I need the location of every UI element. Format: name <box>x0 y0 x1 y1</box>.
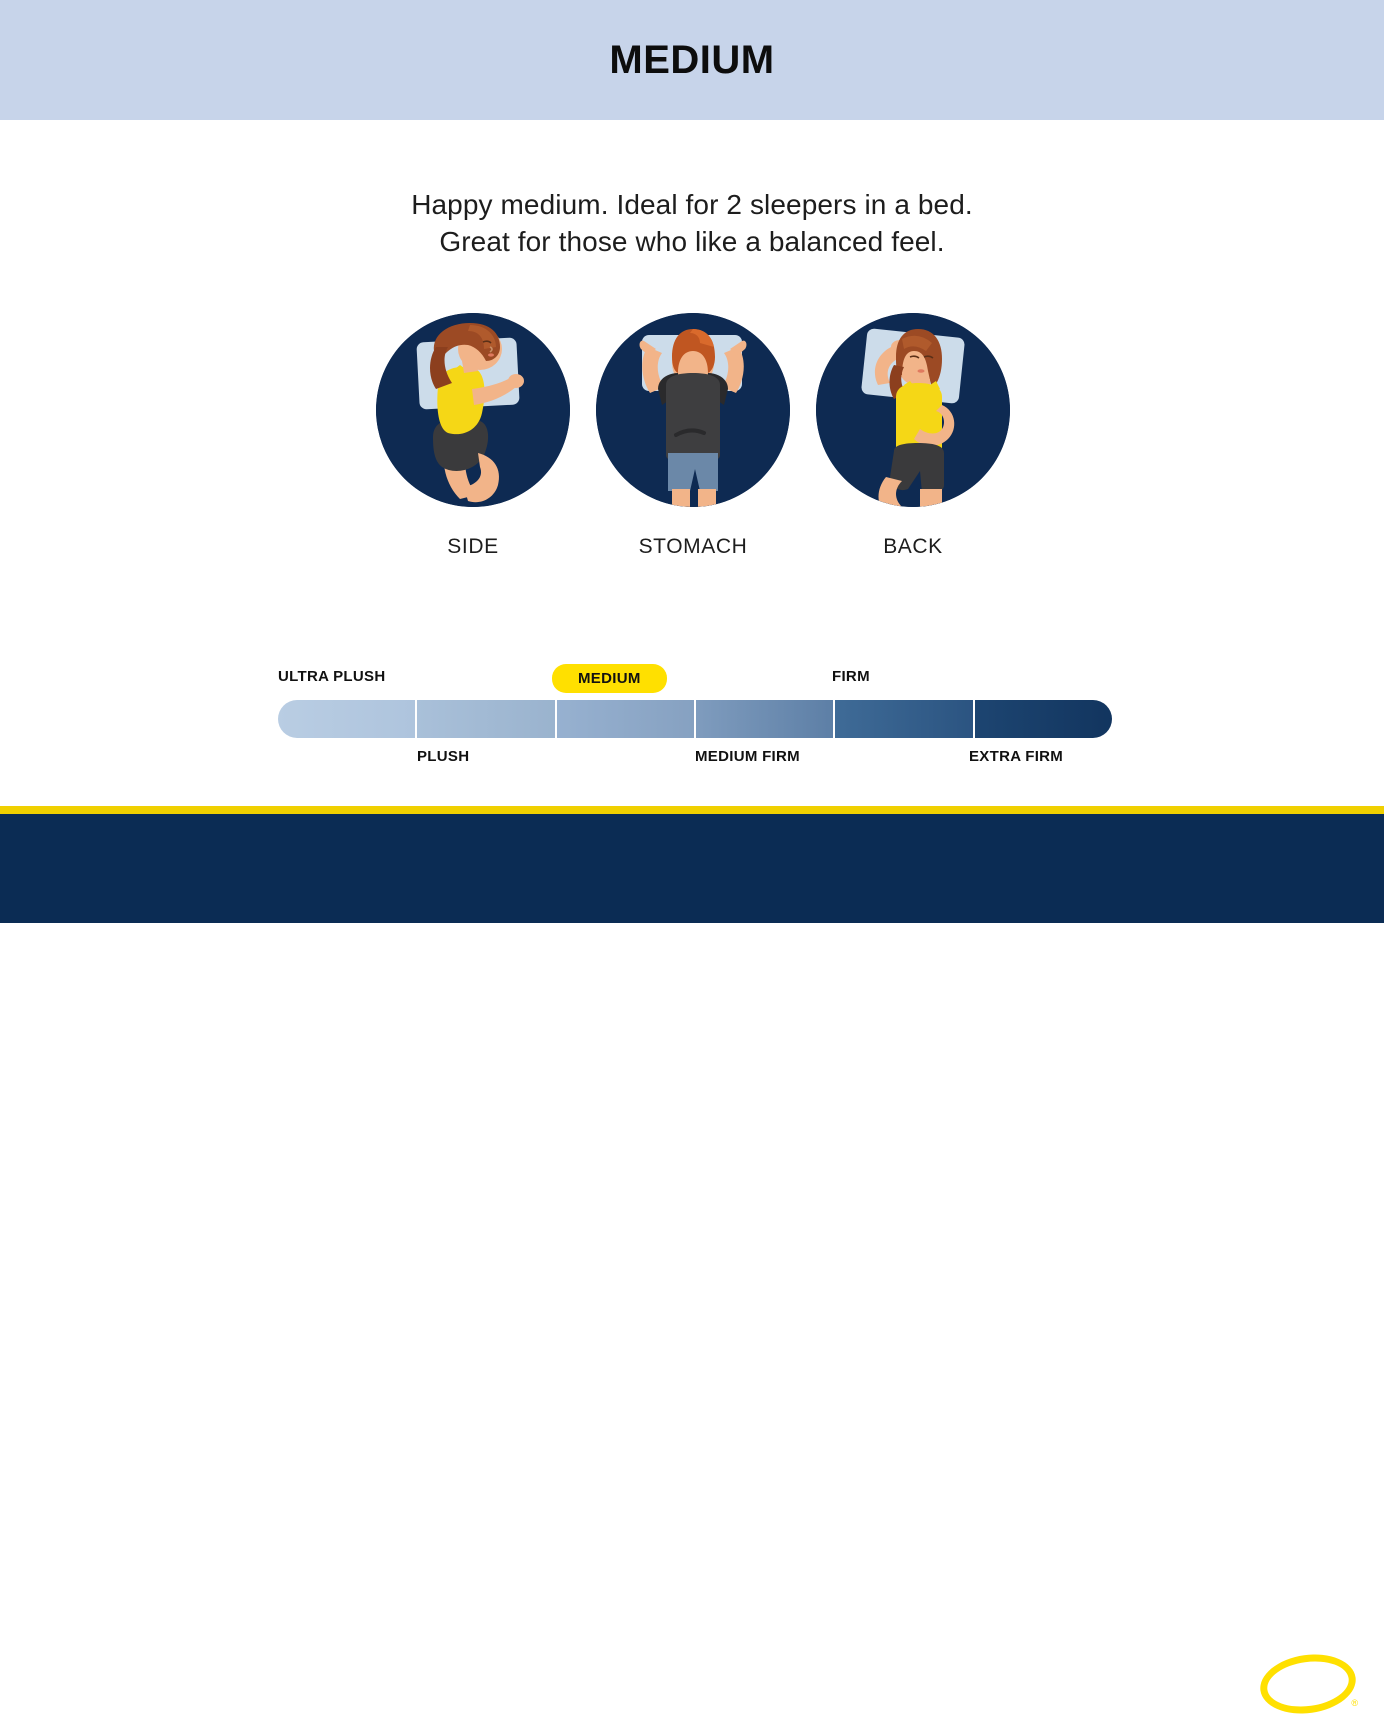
firmness-label-ultra-plush: ULTRA PLUSH <box>278 668 385 685</box>
firmness-segment-extra-firm[interactable] <box>975 700 1112 738</box>
firmness-segment-ultra-plush[interactable] <box>278 700 417 738</box>
firmness-segment-medium-firm[interactable] <box>696 700 835 738</box>
firmness-label-plush: PLUSH <box>417 748 469 765</box>
sleep-position-label: SIDE <box>376 535 570 559</box>
sleep-position-side: SIDE <box>376 313 570 559</box>
firmness-scale: ULTRA PLUSH PLUSH MEDIUM MEDIUM FIRM FIR… <box>278 660 1112 770</box>
footer-band: Serta ® <box>0 814 1384 923</box>
sleep-position-stomach: STOMACH <box>596 313 790 559</box>
registered-trademark-mark: ® <box>1351 1698 1358 1708</box>
firmness-segment-firm[interactable] <box>835 700 974 738</box>
firmness-label-firm: FIRM <box>832 668 870 685</box>
header-band: MEDIUM <box>0 0 1384 120</box>
serta-wordmark: Serta <box>1258 1649 1362 1719</box>
back-sleeper-icon <box>816 313 1010 507</box>
serta-logo: Serta ® <box>1258 1649 1362 1719</box>
sleep-position-label: BACK <box>816 535 1010 559</box>
firmness-label-medium-firm: MEDIUM FIRM <box>695 748 800 765</box>
subtitle-block: Happy medium. Ideal for 2 sleepers in a … <box>0 186 1384 260</box>
sleep-position-label: STOMACH <box>596 535 790 559</box>
firmness-segment-plush[interactable] <box>417 700 556 738</box>
footer-yellow-stripe <box>0 806 1384 814</box>
side-sleeper-icon <box>376 313 570 507</box>
subtitle-line-1: Happy medium. Ideal for 2 sleepers in a … <box>0 186 1384 223</box>
page-title: MEDIUM <box>609 40 774 80</box>
firmness-gradient-bar <box>278 700 1112 738</box>
firmness-label-extra-firm: EXTRA FIRM <box>969 748 1063 765</box>
firmness-label-medium-selected[interactable]: MEDIUM <box>552 664 667 693</box>
stomach-sleeper-icon <box>596 313 790 507</box>
subtitle-line-2: Great for those who like a balanced feel… <box>0 223 1384 260</box>
sleep-position-back: BACK <box>816 313 1010 559</box>
sleep-positions-row: SIDE <box>376 313 1010 573</box>
firmness-segment-medium[interactable] <box>557 700 696 738</box>
